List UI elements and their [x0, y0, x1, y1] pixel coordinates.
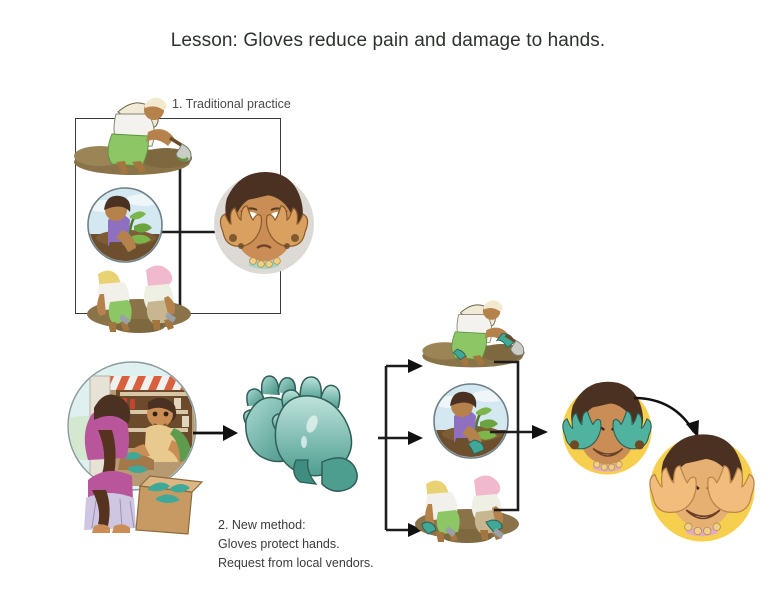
new-method-line-2: Gloves protect hands. [218, 535, 374, 554]
scene-sad-girl-blistered-hands [205, 168, 323, 280]
scene-woman-buying-gloves-from-vendor [62, 358, 202, 536]
scene-woman-digging-bare [70, 88, 195, 178]
scene-happy-girl-clean-hands [640, 430, 764, 548]
new-method-line-1: 2. New method: [218, 516, 374, 535]
scene-girl-planting-bare [86, 186, 164, 264]
new-method-line-3: Request from local vendors. [218, 554, 374, 573]
arrowhead-icon [223, 425, 238, 441]
new-method-label: 2. New method: Gloves protect hands. Req… [218, 516, 374, 573]
arrow-market-to-gloves [193, 422, 239, 444]
scene-two-women-weeding-bare [84, 256, 194, 334]
page-title: Lesson: Gloves reduce pain and damage to… [0, 30, 776, 52]
bracket-scenes-to-happy-outcome [490, 352, 552, 522]
illustration-pair-of-gloves [238, 362, 378, 502]
arrowhead-icon [532, 425, 548, 439]
